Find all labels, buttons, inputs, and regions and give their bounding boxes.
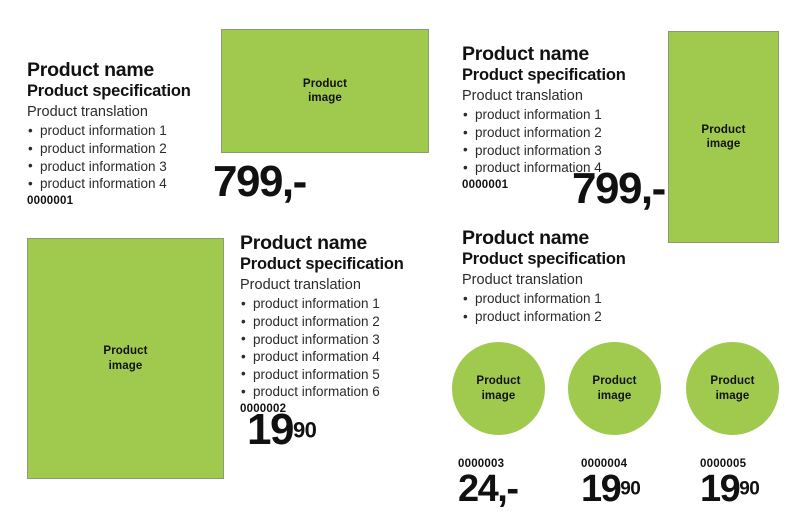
bullet-icon: •	[241, 383, 246, 401]
product-image-label-line1: Product	[303, 77, 347, 91]
product-image-placeholder-2: Product image	[668, 31, 779, 243]
bullet-icon: •	[28, 175, 33, 193]
list-item-label: product information 3	[40, 159, 167, 174]
list-item-label: product information 3	[475, 143, 602, 158]
price-2: 799,-	[572, 167, 665, 211]
bullet-icon: •	[463, 124, 468, 142]
bullet-icon: •	[241, 348, 246, 366]
product-specification: Product specification	[462, 250, 722, 270]
product-name: Product name	[240, 233, 500, 255]
list-item-label: product information 2	[253, 314, 380, 329]
price-cents: 90	[620, 479, 640, 500]
bullet-icon: •	[463, 106, 468, 124]
price-3: 1990	[247, 408, 316, 452]
list-item-label: product information 1	[253, 296, 380, 311]
bullet-icon: •	[28, 140, 33, 158]
price-circle-3: 1990	[700, 470, 759, 508]
product-image-label-line1: Product	[103, 344, 147, 358]
product-information-list: •product information 1 •product informat…	[462, 290, 722, 325]
product-image-placeholder-circle-1: Product image	[452, 342, 545, 435]
price-main: 24,-	[458, 468, 517, 510]
price-main: 799,-	[572, 164, 665, 213]
product-image-label-line2: image	[701, 137, 745, 151]
list-item-label: product information 2	[40, 141, 167, 156]
bullet-icon: •	[463, 290, 468, 308]
product-image-label-line2: image	[476, 389, 520, 403]
product-translation: Product translation	[462, 271, 722, 290]
list-item: •product information 3	[240, 331, 500, 349]
list-item-label: product information 1	[475, 291, 602, 306]
price-circle-2: 1990	[581, 470, 640, 508]
product-image-placeholder-1: Product image	[221, 29, 429, 153]
price-circle-1: 24,-	[458, 470, 517, 508]
bullet-icon: •	[241, 295, 246, 313]
bullet-icon: •	[241, 313, 246, 331]
list-item-label: product information 5	[253, 367, 380, 382]
price-main: 19	[247, 405, 293, 454]
list-item-label: product information 4	[40, 176, 167, 191]
list-item-label: product information 2	[475, 309, 602, 324]
product-translation: Product translation	[240, 276, 500, 295]
product-image-label-line2: image	[303, 91, 347, 105]
list-item: •product information 1	[240, 295, 500, 313]
price-main: 799,-	[213, 157, 306, 206]
product-image-label-line1: Product	[710, 374, 754, 388]
price-cents: 90	[739, 479, 759, 500]
bullet-icon: •	[463, 159, 468, 177]
bullet-icon: •	[28, 157, 33, 175]
product-image-label-line1: Product	[476, 374, 520, 388]
price-main: 19	[700, 468, 739, 510]
product-image-label-line1: Product	[701, 123, 745, 137]
product-image-label-line2: image	[710, 389, 754, 403]
product-image-placeholder-3: Product image	[27, 238, 224, 479]
price-cents: 90	[293, 418, 316, 443]
list-item: •product information 2	[462, 308, 722, 326]
price-main: 19	[581, 468, 620, 510]
list-item-label: product information 1	[475, 107, 602, 122]
price-label-layout-canvas: Product name Product specification Produ…	[0, 0, 805, 530]
product-name: Product name	[462, 228, 722, 250]
list-item-label: product information 1	[40, 123, 167, 138]
product-image-label-line1: Product	[592, 374, 636, 388]
product-image-label-line2: image	[592, 389, 636, 403]
list-item-label: product information 3	[253, 332, 380, 347]
list-item-label: product information 4	[253, 349, 380, 364]
product-info-block-4: Product name Product specification Produ…	[462, 228, 722, 326]
product-image-placeholder-circle-2: Product image	[568, 342, 661, 435]
product-specification: Product specification	[240, 255, 500, 275]
bullet-icon: •	[463, 141, 468, 159]
bullet-icon: •	[28, 122, 33, 140]
list-item: •product information 1	[462, 290, 722, 308]
price-1: 799,-	[213, 160, 306, 204]
bullet-icon: •	[463, 308, 468, 326]
product-image-placeholder-circle-3: Product image	[686, 342, 779, 435]
list-item-label: product information 6	[253, 384, 380, 399]
product-image-label-line2: image	[103, 359, 147, 373]
bullet-icon: •	[241, 365, 246, 383]
list-item-label: product information 2	[475, 125, 602, 140]
bullet-icon: •	[241, 330, 246, 348]
list-item: •product information 2	[240, 313, 500, 331]
